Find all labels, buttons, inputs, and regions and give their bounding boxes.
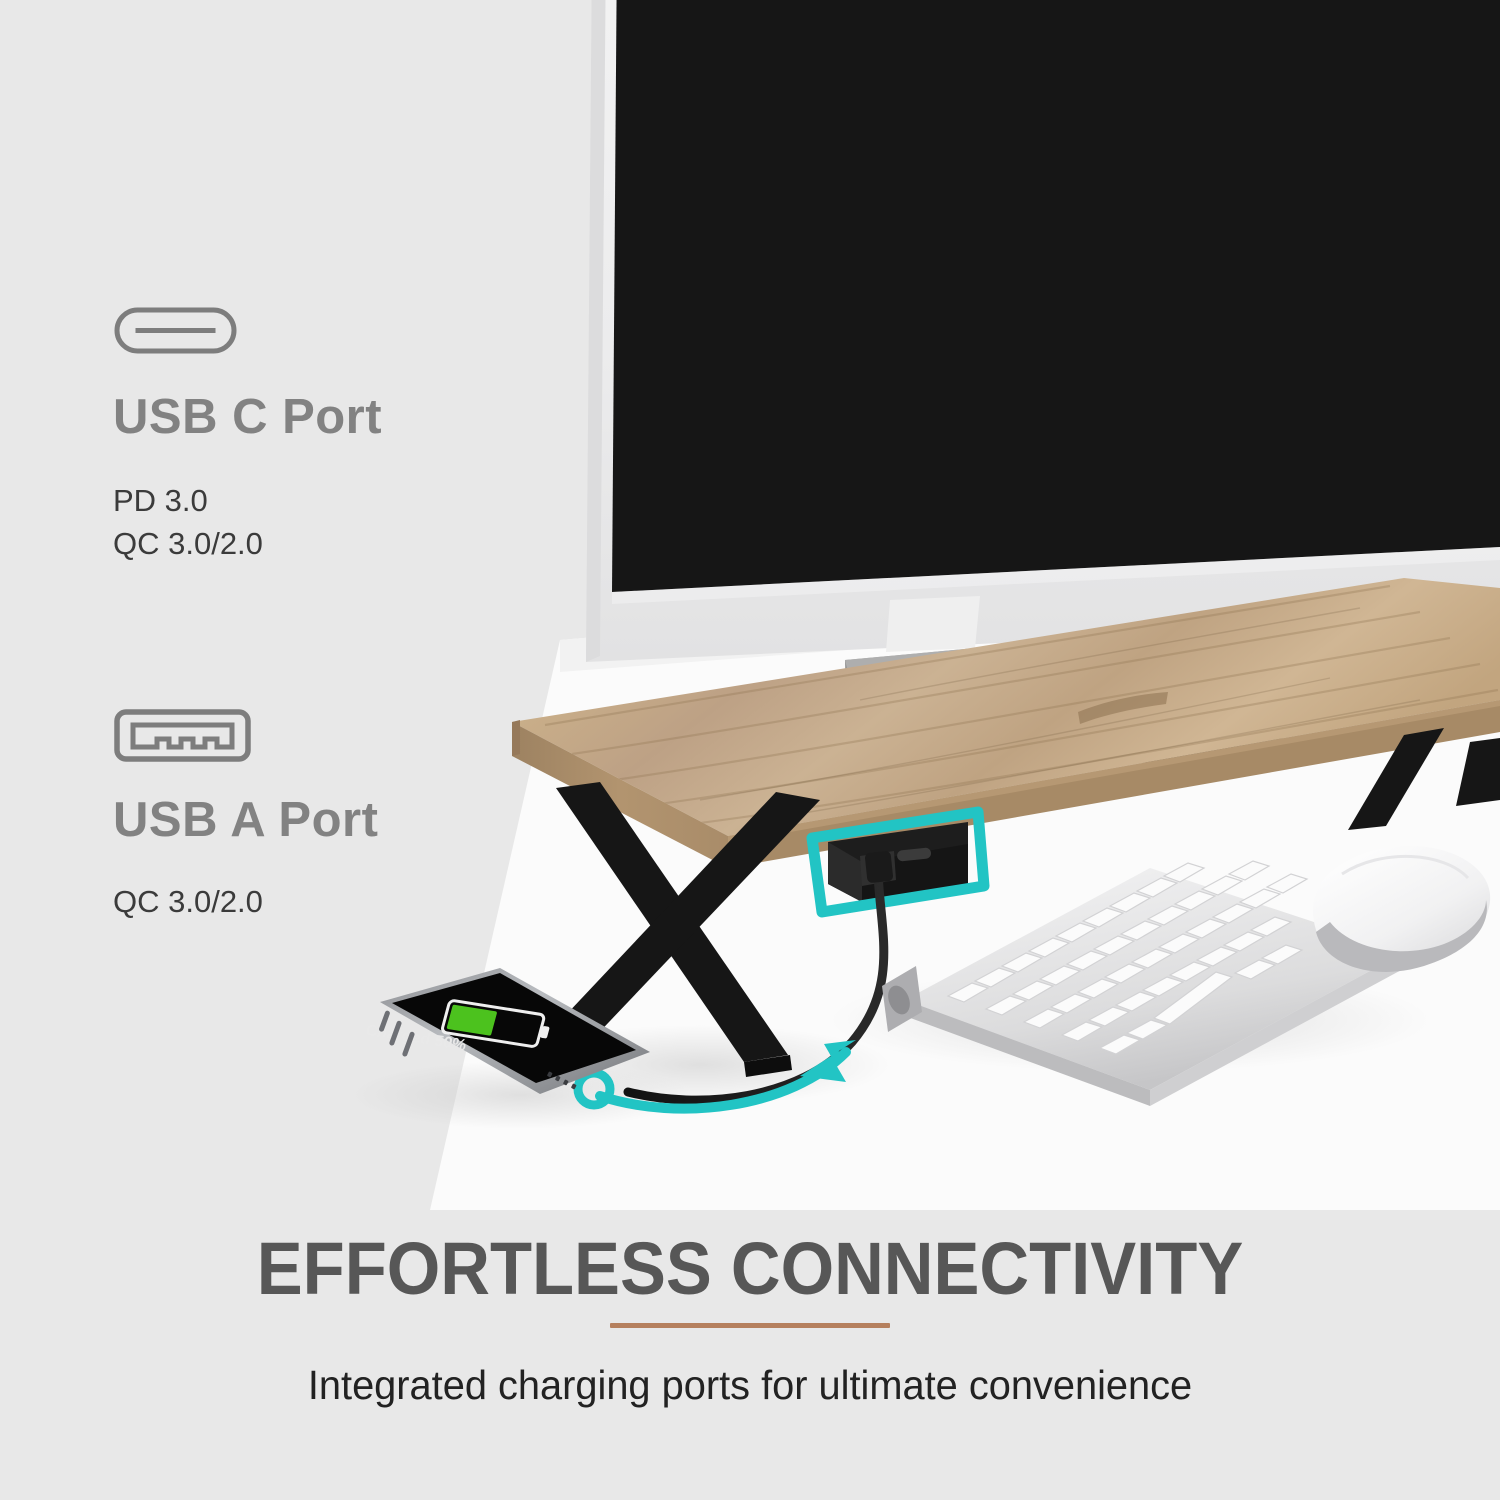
feature-spec: QC 3.0/2.0 bbox=[113, 881, 378, 924]
feature-usb-c: USB C Port PD 3.0 QC 3.0/2.0 bbox=[113, 300, 382, 566]
monitor bbox=[586, 0, 1500, 662]
usb-c-port-icon bbox=[113, 300, 382, 365]
feature-usb-a: USB A Port QC 3.0/2.0 bbox=[113, 705, 378, 924]
divider-rule bbox=[610, 1323, 890, 1328]
product-feature-graphic: Charged 50% bbox=[0, 0, 1500, 1500]
product-photo-scene: Charged 50% bbox=[0, 0, 1500, 1210]
feature-spec: QC 3.0/2.0 bbox=[113, 523, 382, 566]
feature-title: USB A Port bbox=[113, 796, 378, 845]
usb-a-port-icon bbox=[113, 705, 378, 770]
monitor-screen bbox=[612, 0, 1500, 592]
headline: EFFORTLESS CONNECTIVITY bbox=[53, 1226, 1448, 1311]
feature-title: USB C Port bbox=[113, 393, 382, 442]
feature-spec: PD 3.0 bbox=[113, 480, 382, 523]
subheadline: Integrated charging ports for ultimate c… bbox=[23, 1362, 1478, 1409]
